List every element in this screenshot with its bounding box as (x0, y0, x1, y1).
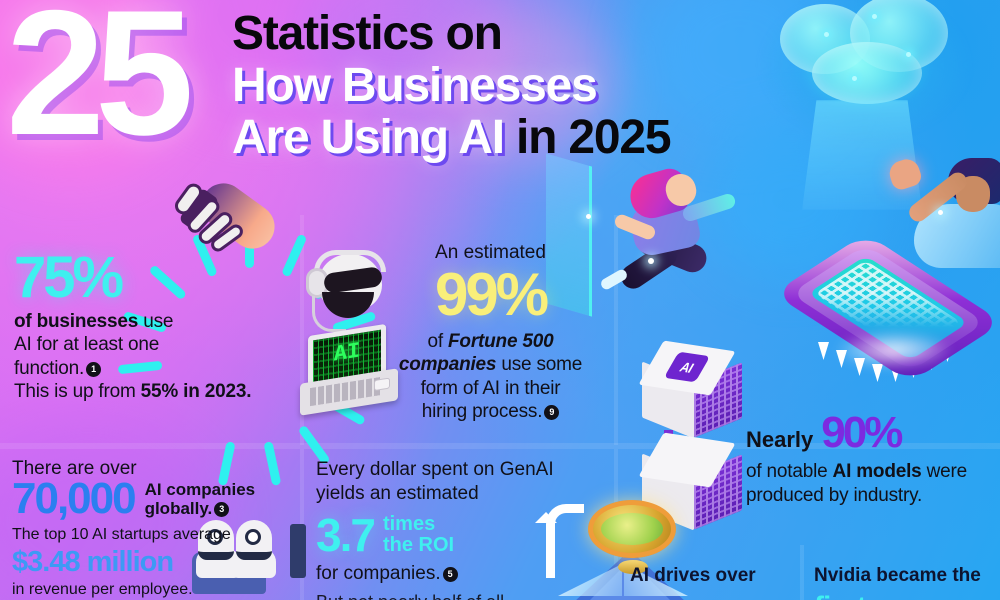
stat-tail-text: for companies. (316, 563, 441, 584)
stat-number-75: 75% (14, 250, 284, 306)
stat-lead-genai: Every dollar spent on GenAI yields an es… (316, 458, 606, 505)
stat-number-row: 70,000 AI companies globally.3 (12, 478, 302, 520)
stat-line2: produced by industry. (746, 485, 922, 506)
stat-side-line2: globally. (145, 499, 213, 518)
headline-line-1: Statistics on (232, 10, 670, 59)
stat-text-ai-models: of notable AI models were produced by in… (746, 460, 992, 507)
citation-badge-3[interactable]: 3 (214, 502, 229, 517)
stat-businesses-using-ai: 75% of businesses use AI for at least on… (14, 250, 284, 404)
sparkle (586, 214, 591, 219)
stat-cut-off-first: first (814, 591, 1000, 600)
stat-text-fortune500: of Fortune 500 companies use some form o… (388, 330, 593, 424)
sparkle (938, 210, 943, 215)
stat-side-line1: AI companies (145, 480, 256, 499)
stat-lead-nearly: Nearly (746, 427, 813, 453)
citation-badge-5[interactable]: 5 (443, 567, 458, 582)
stat-genai-roi: Every dollar spent on GenAI yields an es… (316, 458, 606, 600)
headline-number: 25 (6, 0, 184, 162)
stat-line4-pre: This is up from (14, 381, 141, 402)
stat-line1-pre: of notable (746, 461, 833, 482)
stat-line4-bold: 55% in 2023. (141, 381, 252, 402)
infographic-header: 25 Statistics on How Businesses Are Usin… (0, 0, 1000, 175)
stat-line2: AI for at least one (14, 334, 159, 355)
stat-line1-rest: were (922, 461, 967, 482)
stat-emphasis-companies: companies (399, 354, 496, 375)
stat-number-90: 90% (821, 412, 900, 454)
headline-line-3-white: Are Using AI (232, 111, 504, 164)
infographic-canvas: 25 Statistics on How Businesses Are Usin… (0, 0, 1000, 600)
stat-tail-for-companies: for companies.5 (316, 563, 606, 585)
laptop-screen-label: AI (334, 339, 360, 368)
citation-badge-1[interactable]: 1 (86, 362, 101, 377)
stat-bold-ai-models: AI models (833, 461, 922, 482)
running-woman-icon (596, 168, 736, 318)
stat-nvidia-first: Nvidia became the first (814, 565, 1000, 600)
stat-ai-companies-globally: There are over 70,000 AI companies globa… (12, 458, 302, 599)
sparkle (648, 258, 654, 264)
stat-text-businesses: of businesses use AI for at least one fu… (14, 310, 284, 404)
stat-number-70000: 70,000 (12, 478, 135, 520)
stat-line1-rest: use (138, 311, 173, 332)
stat-sub-top10-startups: The top 10 AI startups average (12, 526, 302, 544)
stat-tail-revenue-per-employee: in revenue per employee. (12, 581, 302, 599)
stat-lead-nvidia: Nvidia became the (814, 565, 1000, 587)
stat-line4: hiring process. (422, 401, 543, 422)
stat-number-37: 3.7 (316, 513, 374, 557)
headline-line-3: Are Using AI in 2025 (232, 113, 670, 163)
stat-cut-off-text: But not nearly half of all (316, 592, 606, 600)
stat-line3: form of AI in their (421, 378, 561, 399)
citation-badge-9[interactable]: 9 (544, 405, 559, 420)
stat-lead-line2: yields an estimated (316, 483, 479, 504)
stat-roi-line1: times (383, 513, 435, 535)
stat-emphasis-fortune500: Fortune 500 (448, 331, 554, 352)
stat-roi-label: times the ROI (383, 514, 454, 556)
stat-bold-of-businesses: of businesses (14, 311, 138, 332)
headline-line-2: How Businesses (232, 61, 670, 111)
stat-lead-line1: Every dollar spent on GenAI (316, 459, 554, 480)
cpu-chip-icon (790, 250, 990, 390)
stat-money-348-million: $3.48 million (12, 546, 302, 579)
stat-fortune-500-hiring: An estimated 99% of Fortune 500 companie… (388, 242, 593, 424)
stat-ai-drives-over: AI drives over (630, 565, 795, 587)
stat-lead-ai-drives-over: AI drives over (630, 565, 795, 587)
stat-line1-pre: of (427, 331, 448, 352)
stat-side-label: AI companies globally.3 (145, 480, 256, 518)
headline-line-3-black: in 2025 (504, 111, 671, 164)
stat-number-row: Nearly 90% (746, 412, 992, 454)
stat-line3: function. (14, 358, 84, 379)
stat-notable-ai-models: Nearly 90% of notable AI models were pro… (746, 412, 992, 507)
panel-divider (800, 545, 804, 600)
stat-line2-rest: use some (496, 354, 582, 375)
stat-number-row: 3.7 times the ROI (316, 513, 606, 557)
headline-text-group: Statistics on How Businesses Are Using A… (232, 10, 670, 164)
stat-roi-line2: the ROI (383, 534, 454, 556)
stat-number-99: 99% (388, 266, 593, 324)
